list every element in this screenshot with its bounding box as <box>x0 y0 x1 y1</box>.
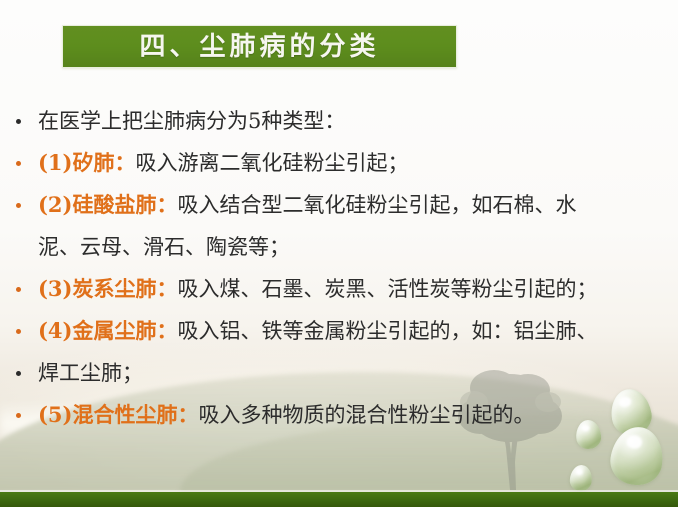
list-item-label: (5)混合性尘肺： <box>38 402 198 427</box>
slide-canvas: 四、尘肺病的分类 在医学上把尘肺病分为5种类型： (1)矽肺：吸入游离二氧化硅粉… <box>0 0 678 507</box>
list-item: (4)金属尘肺：吸入铝、铁等金属粉尘引起的，如：铝尘肺、 <box>0 310 678 352</box>
list-item: 焊工尘肺； <box>0 352 678 394</box>
list-item-text: (1)矽肺：吸入游离二氧化硅粉尘引起； <box>38 152 408 174</box>
list-item: (3)炭系尘肺：吸入煤、石墨、炭黑、活性炭等粉尘引起的； <box>0 268 678 310</box>
list-item-label: (3)炭系尘肺： <box>38 276 177 301</box>
list-item-body: 焊工尘肺； <box>38 361 143 385</box>
list-item-text: 焊工尘肺； <box>38 363 143 384</box>
list-item-label: (2)硅酸盐肺： <box>38 192 177 217</box>
bullet-icon <box>12 329 38 334</box>
list-item-text: (3)炭系尘肺：吸入煤、石墨、炭黑、活性炭等粉尘引起的； <box>38 278 597 300</box>
footer-green-bar <box>0 492 678 507</box>
list-item-text: (2)硅酸盐肺：吸入结合型二氧化硅粉尘引起，如石棉、水 <box>38 194 576 216</box>
list-item-body: 吸入游离二氧化硅粉尘引起； <box>135 151 408 175</box>
bullet-icon <box>12 119 38 124</box>
list-item-continuation: 泥、云母、滑石、陶瓷等； <box>0 226 678 268</box>
list-item-text: (5)混合性尘肺：吸入多种物质的混合性粉尘引起的。 <box>38 404 534 426</box>
list-item-body: 吸入铝、铁等金属粉尘引起的，如：铝尘肺、 <box>177 319 597 343</box>
list-item: (5)混合性尘肺：吸入多种物质的混合性粉尘引起的。 <box>0 394 678 436</box>
list-item-text: (4)金属尘肺：吸入铝、铁等金属粉尘引起的，如：铝尘肺、 <box>38 320 597 342</box>
list-item-body: 在医学上把尘肺病分为5种类型： <box>38 109 345 133</box>
list-item: (2)硅酸盐肺：吸入结合型二氧化硅粉尘引起，如石棉、水 <box>0 184 678 226</box>
list-item: (1)矽肺：吸入游离二氧化硅粉尘引起； <box>0 142 678 184</box>
bullet-icon <box>12 287 38 292</box>
bullet-icon <box>12 371 38 376</box>
list-item-label: (1)矽肺： <box>38 150 135 175</box>
list-item-body: 泥、云母、滑石、陶瓷等； <box>38 235 290 259</box>
bullet-icon <box>12 413 38 418</box>
list-item-text: 在医学上把尘肺病分为5种类型： <box>38 111 345 132</box>
list-item: 在医学上把尘肺病分为5种类型： <box>0 100 678 142</box>
list-item-body: 吸入多种物质的混合性粉尘引起的。 <box>198 403 534 427</box>
page-title: 四、尘肺病的分类 <box>139 34 379 60</box>
title-banner: 四、尘肺病的分类 <box>62 25 457 68</box>
list-item-body: 吸入结合型二氧化硅粉尘引起，如石棉、水 <box>177 193 576 217</box>
bullet-icon <box>12 161 38 166</box>
list-item-text: 泥、云母、滑石、陶瓷等； <box>38 237 290 258</box>
bullet-icon <box>12 203 38 208</box>
content-list: 在医学上把尘肺病分为5种类型： (1)矽肺：吸入游离二氧化硅粉尘引起； (2)硅… <box>0 100 678 436</box>
list-item-label: (4)金属尘肺： <box>38 318 177 343</box>
list-item-body: 吸入煤、石墨、炭黑、活性炭等粉尘引起的； <box>177 277 597 301</box>
